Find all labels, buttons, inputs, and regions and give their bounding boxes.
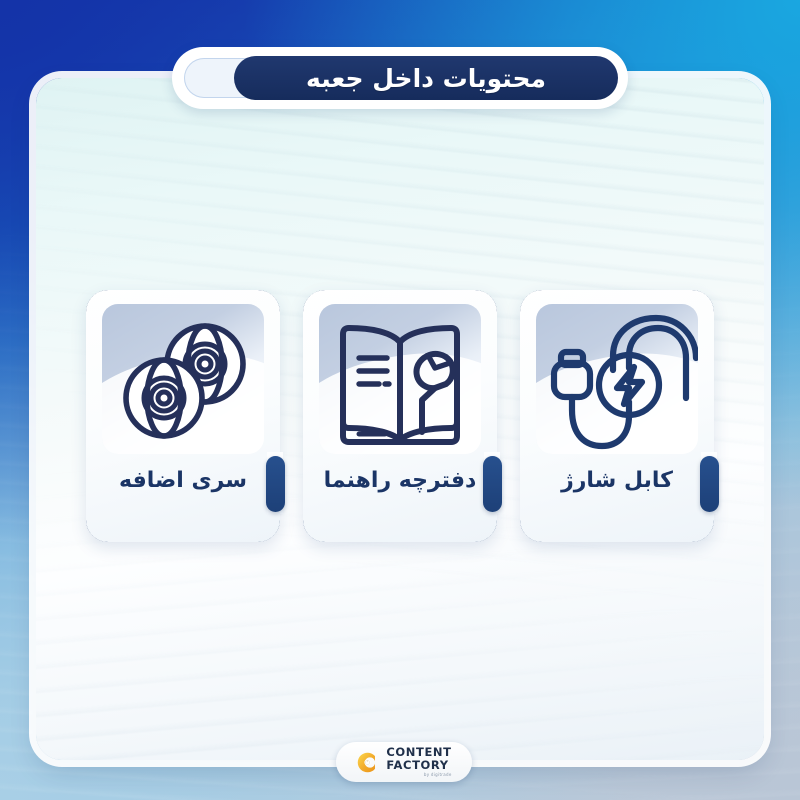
brand-wordmark: CONTENT FACTORY by digitrade xyxy=(386,747,451,777)
page-title: محتویات داخل جعبه xyxy=(306,64,546,93)
manual-book-wrench-icon xyxy=(319,298,481,460)
brand-line-2: FACTORY xyxy=(386,760,451,772)
card-label: کابل شارژ xyxy=(520,468,714,493)
content-factory-c-logo xyxy=(356,751,379,774)
card-manual[interactable]: دفترچه راهنما xyxy=(303,290,497,542)
card-label: سری اضافه xyxy=(86,468,280,493)
card-extra-tips[interactable]: سری اضافه xyxy=(86,290,280,542)
card-label: دفترچه راهنما xyxy=(303,468,497,493)
card-side-tab xyxy=(483,456,502,512)
infographic-canvas: محتویات داخل جعبه xyxy=(0,0,800,800)
title-pill: محتویات داخل جعبه xyxy=(234,56,618,100)
brand-line-1: CONTENT xyxy=(386,747,451,759)
brand-subtitle: by digitrade xyxy=(386,773,451,777)
brand-badge[interactable]: CONTENT FACTORY by digitrade xyxy=(336,742,472,782)
title-capsule: محتویات داخل جعبه xyxy=(172,47,628,109)
card-charging-cable[interactable]: کابل شارژ xyxy=(520,290,714,542)
charging-cable-icon xyxy=(536,298,698,460)
earbud-tips-icon xyxy=(102,298,264,460)
box-contents-card-row: کابل شارژ xyxy=(36,290,764,550)
card-side-tab xyxy=(700,456,719,512)
card-side-tab xyxy=(266,456,285,512)
